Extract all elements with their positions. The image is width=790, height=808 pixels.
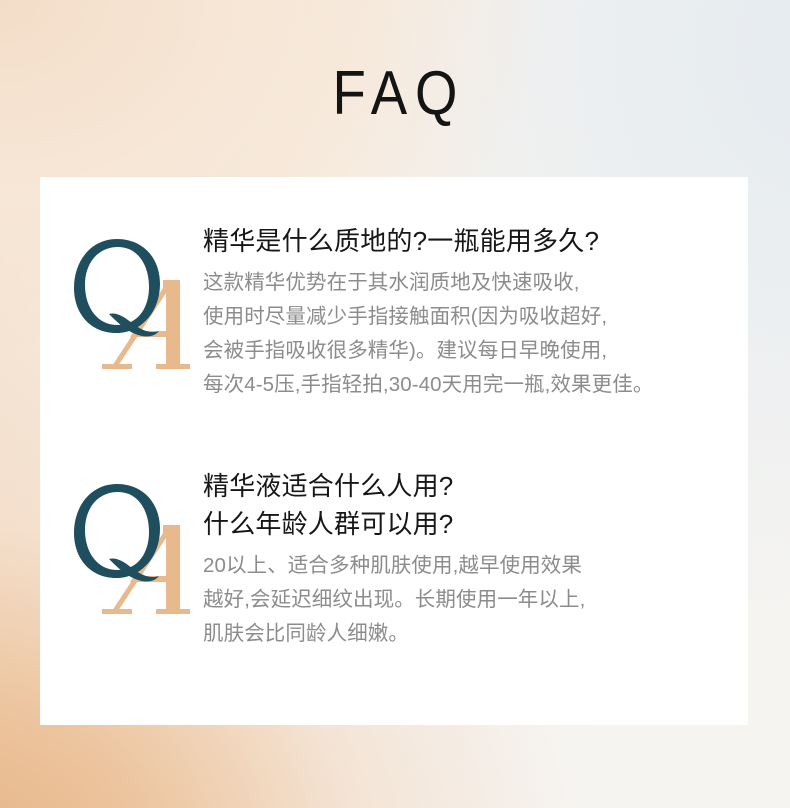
qa-monogram-icon	[62, 475, 202, 625]
q-letter-glyph	[74, 484, 160, 581]
faq-text-column: 精华液适合什么人用? 什么年龄人群可以用? 20以上、适合多种肌肤使用,越早使用…	[203, 467, 748, 651]
faq-answer: 20以上、适合多种肌肤使用,越早使用效果 越好,会延迟细纹出现。长期使用一年以上…	[203, 549, 748, 651]
page-title: FAQ	[47, 63, 742, 125]
faq-page: FAQ	[0, 0, 790, 808]
qa-monogram-icon	[62, 230, 202, 380]
q-letter-glyph	[74, 239, 160, 336]
faq-answer: 这款精华优势在于其水润质地及快速吸收, 使用时尽量减少手指接触面积(因为吸收超好…	[203, 266, 748, 402]
faq-card: 精华是什么质地的?一瓶能用多久? 这款精华优势在于其水润质地及快速吸收, 使用时…	[40, 177, 748, 725]
faq-question: 精华是什么质地的?一瓶能用多久?	[203, 222, 748, 260]
a-letter-glyph	[102, 280, 190, 369]
a-letter-glyph	[102, 525, 190, 614]
faq-question: 精华液适合什么人用? 什么年龄人群可以用?	[203, 467, 748, 543]
faq-text-column: 精华是什么质地的?一瓶能用多久? 这款精华优势在于其水润质地及快速吸收, 使用时…	[203, 222, 748, 402]
